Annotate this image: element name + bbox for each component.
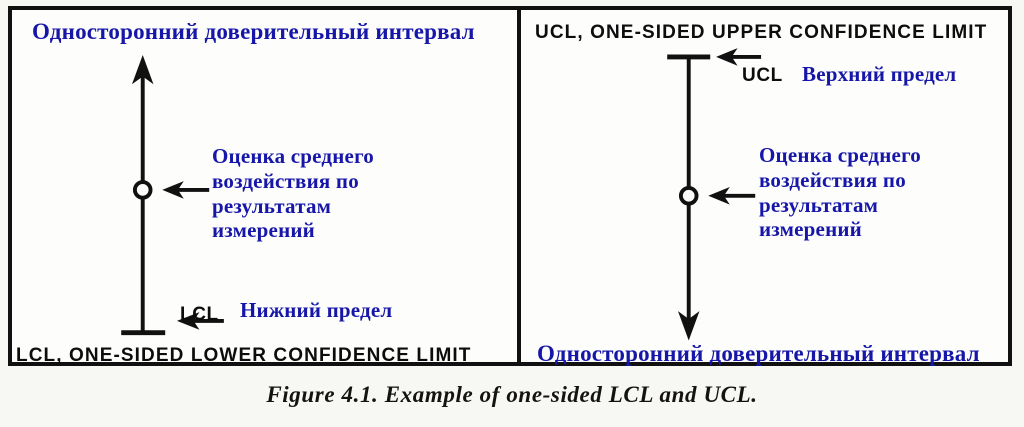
lcl-estimate-callout-line-2: воздействия по (212, 169, 374, 194)
ucl-estimate-callout-line-2: воздействия по (759, 168, 921, 193)
figure-caption: Figure 4.1. Example of one-sided LCL and… (0, 382, 1024, 408)
lcl-estimate-callout-line-1: Оценка среднего (212, 144, 374, 169)
ucl-mean-estimate-marker (681, 188, 697, 204)
ucl-estimate-callout-line-4: измерений (759, 217, 921, 242)
ucl-tag: UCL (742, 65, 783, 87)
lcl-estimate-callout-line-3: результатам (212, 194, 374, 219)
ucl-estimate-callout: Оценка среднего воздействия по результат… (759, 143, 921, 242)
lcl-estimate-callout: Оценка среднего воздействия по результат… (212, 144, 374, 243)
ucl-panel-title: Односторонний доверительный интервал (537, 340, 980, 367)
figure-frame: Односторонний доверительный интервал Оце… (8, 6, 1012, 366)
lcl-estimate-callout-line-4: измерений (212, 218, 374, 243)
lcl-limit-label: Нижний предел (240, 298, 392, 323)
lcl-definition: LCL, ONE-SIDED LOWER CONFIDENCE LIMIT (16, 345, 472, 367)
ucl-estimate-callout-line-1: Оценка среднего (759, 143, 921, 168)
panel-ucl: UCL, ONE-SIDED UPPER CONFIDENCE LIMIT UC… (517, 10, 1012, 362)
ucl-limit-label: Верхний предел (802, 62, 956, 87)
panel-lcl: Односторонний доверительный интервал Оце… (12, 10, 513, 362)
lcl-tag: LCL (180, 304, 219, 326)
lcl-mean-estimate-marker (135, 182, 151, 198)
ucl-estimate-callout-line-3: результатам (759, 193, 921, 218)
